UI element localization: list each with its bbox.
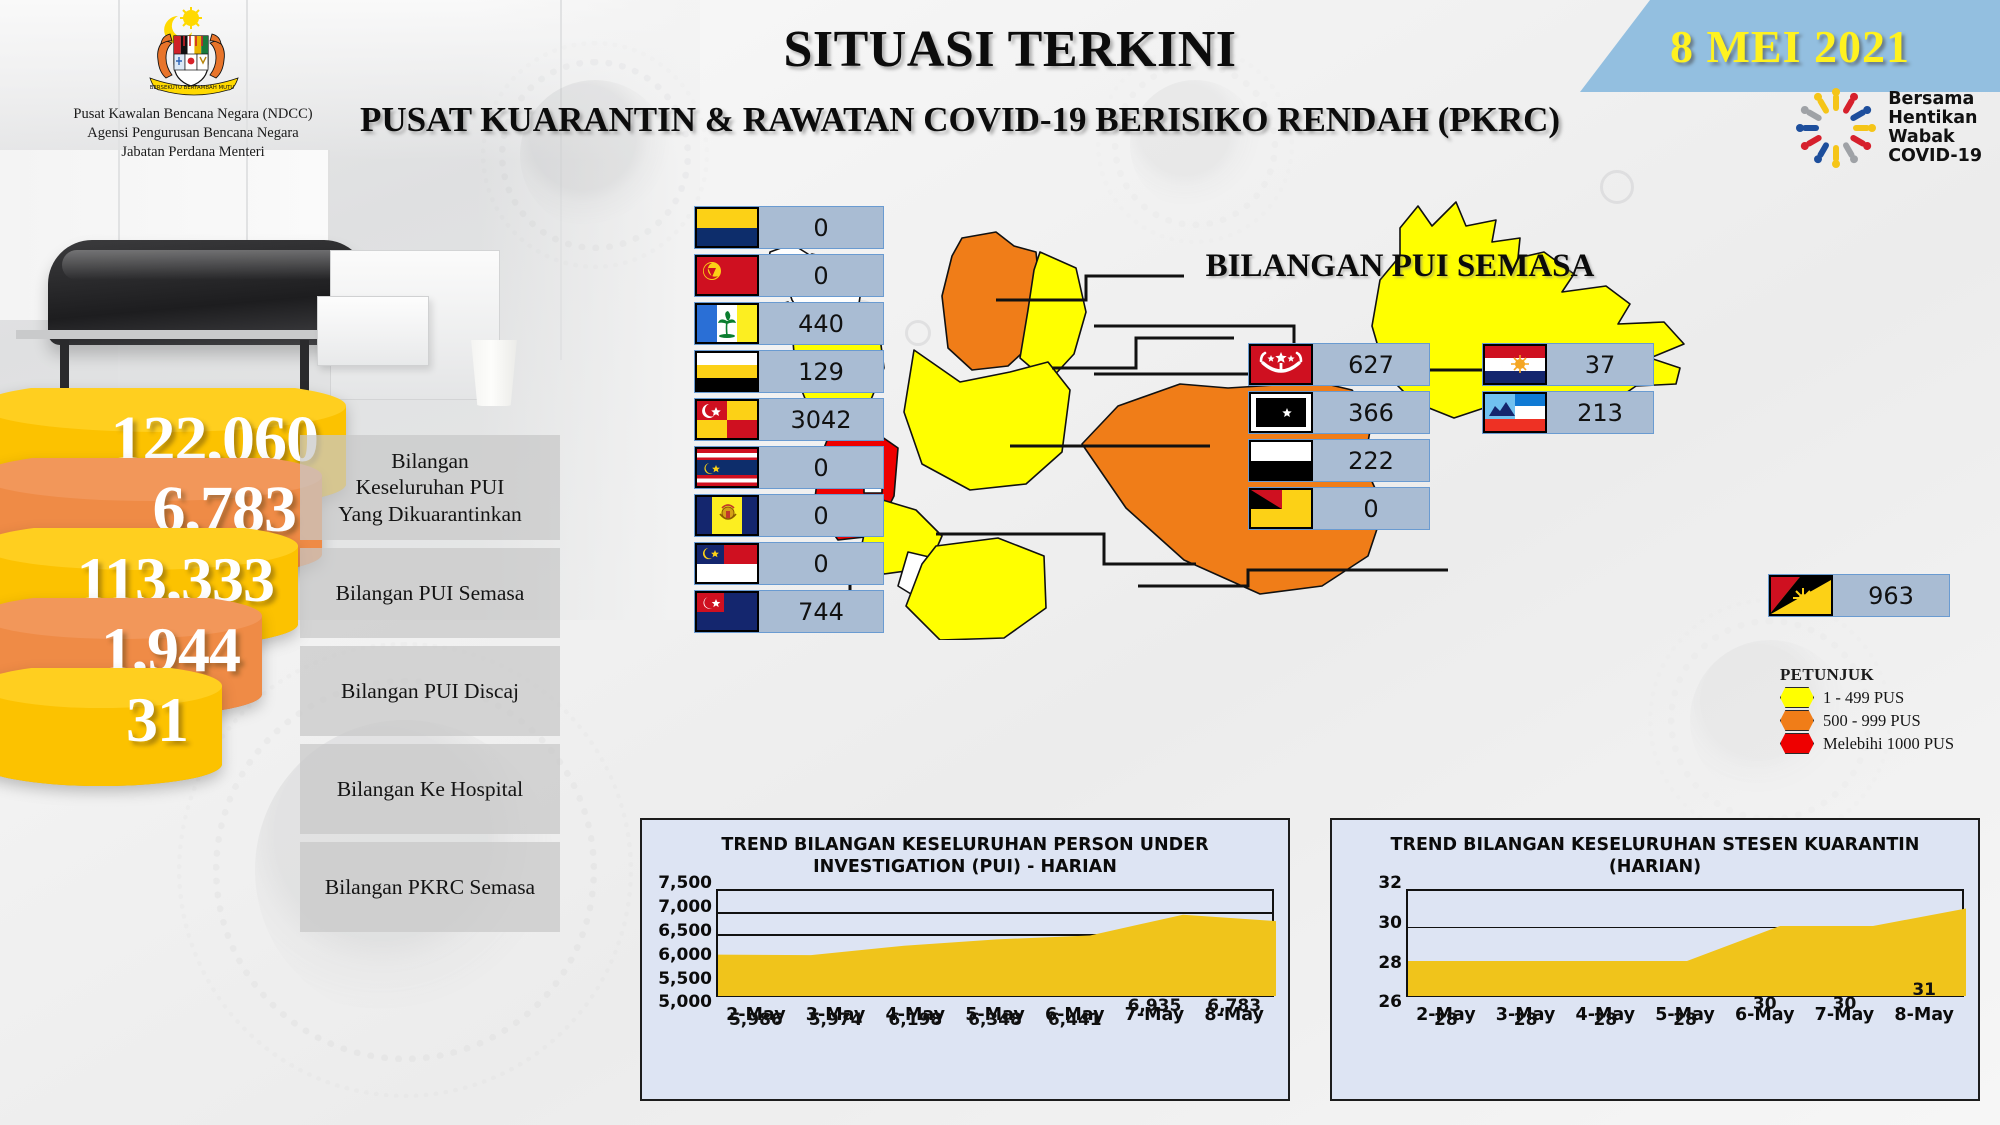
- svg-text:BERSEKUTU BERTAMBAH MUTU: BERSEKUTU BERTAMBAH MUTU: [150, 85, 235, 91]
- legend-label-high: Melebihi 1000 PUS: [1823, 734, 1954, 754]
- flag-melaka-icon: [695, 543, 759, 584]
- value-label: 31: [1884, 980, 1964, 1000]
- state-row-perlis[interactable]: 0: [694, 206, 884, 249]
- value-label: 6,935: [1115, 996, 1195, 1016]
- value-label: 28: [1645, 1010, 1725, 1030]
- flag-putrajaya-icon: [695, 495, 759, 536]
- campaign-text: Bersama Hentikan Wabak COVID-19: [1888, 90, 1982, 166]
- cabinet-drawer: [317, 296, 429, 366]
- legend-label-low: 1 - 499 PUS: [1823, 688, 1904, 708]
- legend-swatch-high: [1780, 733, 1814, 754]
- state-value-kedah: 0: [759, 255, 883, 296]
- funnel-labels: Bilangan Keseluruhan PUI Yang Dikuaranti…: [300, 435, 560, 932]
- bersama-hentikan-wabak-icon: [1796, 88, 1876, 168]
- state-row-kelantan[interactable]: 627: [1248, 343, 1430, 386]
- state-row-pahang[interactable]: 222: [1248, 439, 1430, 482]
- malaysia-coat-of-arms-icon: BERSEKUTU BERTAMBAH MUTU: [134, 6, 252, 102]
- state-row-terengganu[interactable]: 366: [1248, 391, 1430, 434]
- funnel-label-3: Bilangan PUI Discaj: [300, 646, 560, 736]
- chart-pui-title: TREND BILANGAN KESELURUHAN PERSON UNDER …: [642, 820, 1288, 887]
- state-value-putrajaya: 0: [759, 495, 883, 536]
- state-row-kedah[interactable]: 0: [694, 254, 884, 297]
- state-value-pahang: 222: [1313, 440, 1429, 481]
- y-tick: 7,000: [658, 897, 712, 917]
- state-value-kuala-lumpur: 0: [759, 447, 883, 488]
- photo-cabinet: [330, 250, 500, 400]
- y-tick: 6,500: [658, 921, 712, 941]
- campaign-line-3: Wabak: [1888, 128, 1982, 147]
- state-value-perlis: 0: [759, 207, 883, 248]
- flag-perlis-icon: [695, 207, 759, 248]
- flag-kelantan-icon: [1249, 344, 1313, 385]
- flag-penang-icon: [695, 303, 759, 344]
- y-tick: 5,000: [658, 992, 712, 1012]
- funnel-label-2: Bilangan PUI Semasa: [300, 548, 560, 638]
- chart-stesen-title: TREND BILANGAN KESELURUHAN STESEN KUARAN…: [1332, 820, 1978, 887]
- value-label: 30: [1725, 994, 1805, 1014]
- y-tick: 30: [1378, 913, 1402, 933]
- state-value-johor: 744: [759, 591, 883, 632]
- chart-stesen-yaxis: 32 30 28 26: [1336, 881, 1402, 1009]
- funnel-label-4: Bilangan Ke Hospital: [300, 744, 560, 834]
- date-banner: 8 MEI 2021: [1580, 0, 2000, 92]
- y-tick: 26: [1378, 992, 1402, 1012]
- state-value-sarawak: 963: [1833, 575, 1949, 616]
- flag-labuan-icon: [1483, 344, 1547, 385]
- state-row-negeri-sembilan[interactable]: 0: [1248, 487, 1430, 530]
- flag-sabah-icon: [1483, 392, 1547, 433]
- legend-swatch-mid: [1780, 710, 1814, 731]
- value-label: 6,441: [1035, 1010, 1115, 1030]
- funnel-band: 31: [0, 668, 222, 772]
- legend-label-mid: 500 - 999 PUS: [1823, 711, 1921, 731]
- state-row-sarawak[interactable]: 963: [1768, 574, 1950, 617]
- legend-swatch-low: [1780, 687, 1814, 708]
- state-value-negeri-sembilan: 0: [1313, 488, 1429, 529]
- y-tick: 28: [1378, 953, 1402, 973]
- chart-stesen-value-labels: 28 28 28 28 30 30 31: [1406, 1010, 1964, 1030]
- flag-pahang-icon: [1249, 440, 1313, 481]
- state-row-johor[interactable]: 744: [694, 590, 884, 633]
- chart-pui-yaxis: 7,500 7,000 6,500 6,000 5,500 5,000: [646, 881, 712, 1009]
- legend-entry: 1 - 499 PUS: [1780, 687, 1954, 708]
- value-label: 5,986: [716, 1010, 796, 1030]
- map-section-title: BILANGAN PUI SEMASA: [1150, 248, 1650, 285]
- legend-title: PETUNJUK: [1780, 665, 1954, 685]
- state-row-labuan[interactable]: 37: [1482, 343, 1654, 386]
- state-row-sabah[interactable]: 213: [1482, 391, 1654, 434]
- state-row-perak[interactable]: 129: [694, 350, 884, 393]
- y-tick: 32: [1378, 873, 1402, 893]
- bed-frame: [16, 330, 346, 339]
- flag-selangor-icon: [695, 399, 759, 440]
- page-subtitle: PUSAT KUARANTIN & RAWATAN COVID-19 BERIS…: [250, 100, 1670, 140]
- y-tick: 6,000: [658, 945, 712, 965]
- value-label: 6,783: [1194, 996, 1274, 1016]
- chart-stesen-plot: 32 30 28 26: [1406, 889, 1964, 997]
- chart-pui-plot: 7,500 7,000 6,500 6,000 5,500 5,000: [716, 889, 1274, 997]
- flag-sarawak-icon: [1769, 575, 1833, 616]
- chart-stesen-area: [1408, 891, 1966, 996]
- funnel-label-1: Bilangan Keseluruhan PUI Yang Dikuaranti…: [300, 435, 560, 540]
- funnel-label-5: Bilangan PKRC Semasa: [300, 842, 560, 932]
- state-value-perak: 129: [759, 351, 883, 392]
- flag-negeri-sembilan-icon: [1249, 488, 1313, 529]
- chart-pui-area: [718, 891, 1276, 996]
- campaign-line-2: Hentikan: [1888, 109, 1982, 128]
- flag-terengganu-icon: [1249, 392, 1313, 433]
- chart-pui-trend: TREND BILANGAN KESELURUHAN PERSON UNDER …: [640, 818, 1290, 1101]
- campaign-logo: Bersama Hentikan Wabak COVID-19: [1796, 88, 1982, 168]
- state-value-melaka: 0: [759, 543, 883, 584]
- value-label: 28: [1486, 1010, 1566, 1030]
- state-row-kuala-lumpur[interactable]: 0: [694, 446, 884, 489]
- y-tick: 7,500: [658, 873, 712, 893]
- value-label: 28: [1406, 1010, 1486, 1030]
- map-legend: PETUNJUK 1 - 499 PUS 500 - 999 PUS Meleb…: [1780, 665, 1954, 754]
- agency-line-3: Jabatan Perdana Menteri: [18, 143, 368, 162]
- flag-perak-icon: [695, 351, 759, 392]
- campaign-line-1: Bersama: [1888, 90, 1982, 109]
- value-label: 30: [1805, 994, 1885, 1014]
- value-label: 28: [1565, 1010, 1645, 1030]
- value-label: 5,974: [796, 1010, 876, 1030]
- summary-funnel: 122,060 6,783 113,333 1,94: [0, 412, 300, 772]
- legend-entry: Melebihi 1000 PUS: [1780, 733, 1954, 754]
- campaign-line-4: COVID-19: [1888, 147, 1982, 166]
- chart-pui-value-labels: 5,986 5,974 6,198 6,348 6,441 6,935 6,78…: [716, 1010, 1274, 1030]
- funnel-value-5: 31: [126, 683, 188, 757]
- state-value-kelantan: 627: [1313, 344, 1429, 385]
- state-value-penang: 440: [759, 303, 883, 344]
- value-label: 6,348: [955, 1010, 1035, 1030]
- y-tick: 5,500: [658, 969, 712, 989]
- flag-kedah-icon: [695, 255, 759, 296]
- value-label: 6,198: [875, 1010, 955, 1030]
- page-title: SITUASI TERKINI: [470, 20, 1550, 79]
- state-row-melaka[interactable]: 0: [694, 542, 884, 585]
- state-row-putrajaya[interactable]: 0: [694, 494, 884, 537]
- map-state-pahang: [904, 350, 1070, 490]
- state-row-penang[interactable]: 440: [694, 302, 884, 345]
- flag-kuala-lumpur-icon: [695, 447, 759, 488]
- state-value-terengganu: 366: [1313, 392, 1429, 433]
- date-text: 8 MEI 2021: [1670, 20, 1910, 73]
- state-value-selangor: 3042: [759, 399, 883, 440]
- legend-entry: 500 - 999 PUS: [1780, 710, 1954, 731]
- state-row-selangor[interactable]: 3042: [694, 398, 884, 441]
- chart-stesen-trend: TREND BILANGAN KESELURUHAN STESEN KUARAN…: [1330, 818, 1980, 1101]
- state-value-sabah: 213: [1547, 392, 1653, 433]
- state-value-labuan: 37: [1547, 344, 1653, 385]
- flag-johor-icon: [695, 591, 759, 632]
